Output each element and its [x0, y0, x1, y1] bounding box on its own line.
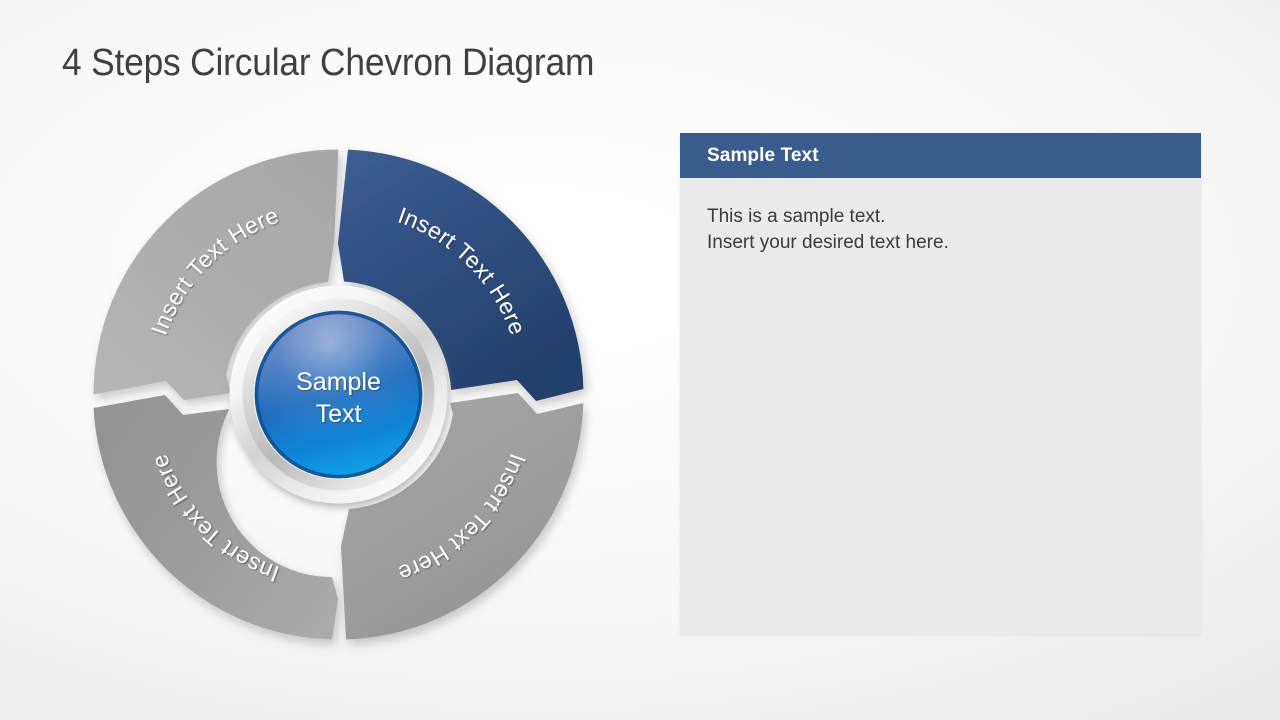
page-title: 4 Steps Circular Chevron Diagram	[62, 42, 594, 85]
circular-chevron-diagram: Sample Text Insert Text Here Insert Text…	[66, 122, 611, 667]
center-label-line2: Text	[316, 400, 362, 428]
info-panel-body: This is a sample text. Insert your desir…	[680, 178, 1201, 256]
info-panel-line-1: This is a sample text.	[707, 204, 1174, 230]
info-panel-header: Sample Text	[680, 133, 1201, 178]
center-label-line1: Sample	[296, 368, 381, 396]
slide-canvas: 4 Steps Circular Chevron Diagram	[0, 0, 1280, 720]
info-panel-line-2: Insert your desired text here.	[707, 230, 1174, 256]
info-panel-title: Sample Text	[707, 145, 819, 167]
info-panel: Sample Text This is a sample text. Inser…	[680, 133, 1201, 634]
